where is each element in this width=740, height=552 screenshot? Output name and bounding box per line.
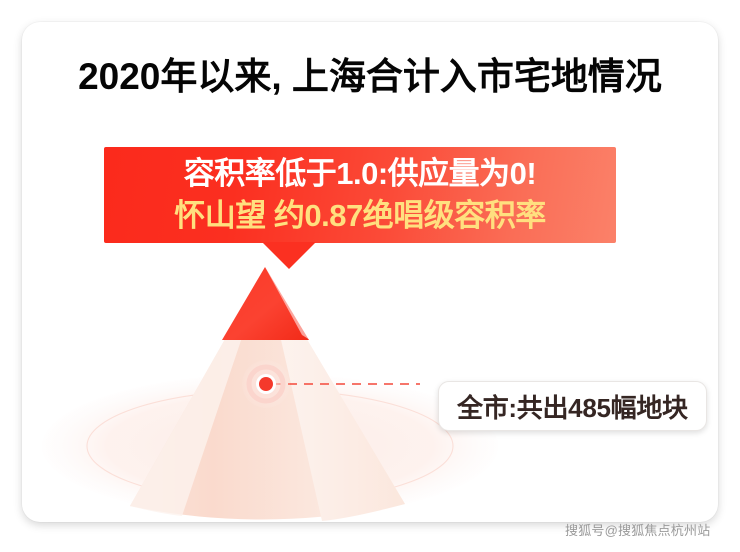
cone-body	[130, 269, 405, 520]
content-card: 2020年以来, 上海合计入市宅地情况 容积率低于1.0:供应量为0! 怀山望 …	[22, 22, 718, 522]
banner-line-secondary: 怀山望 约0.87绝唱级容积率	[104, 195, 616, 237]
banner-line-primary: 容积率低于1.0:供应量为0!	[104, 153, 616, 195]
total-callout-label: 全市:共出485幅地块	[457, 388, 688, 425]
cone-facet-left	[130, 269, 265, 516]
cone-tip-triangle	[222, 267, 309, 340]
base-ellipse-inner	[87, 390, 453, 502]
cone-tip-sliver	[265, 267, 310, 340]
marker-ring-inner	[256, 374, 276, 394]
cone-facet-right	[265, 269, 405, 521]
base-ellipse-outer	[42, 374, 498, 518]
infographic-canvas: 2020年以来, 上海合计入市宅地情况 容积率低于1.0:供应量为0! 怀山望 …	[0, 0, 740, 552]
triangle-down-icon	[262, 242, 316, 269]
highlight-banner: 容积率低于1.0:供应量为0! 怀山望 约0.87绝唱级容积率	[104, 147, 616, 243]
total-callout-box: 全市:共出485幅地块	[438, 381, 707, 431]
marker-ring-outer	[249, 367, 283, 401]
watermark: 搜狐号@搜狐焦点杭州站	[565, 520, 710, 539]
page-title: 2020年以来, 上海合计入市宅地情况	[22, 54, 718, 99]
marker-dot-icon	[259, 377, 273, 391]
marker-glow	[242, 360, 290, 408]
